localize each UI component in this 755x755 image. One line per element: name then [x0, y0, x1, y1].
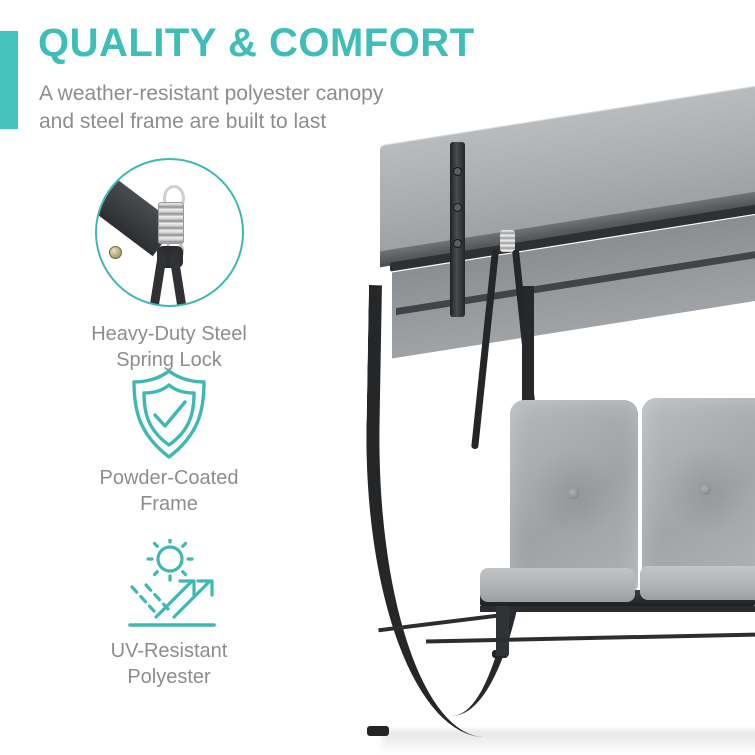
feature-item-powder-coated: Powder-Coated Frame — [24, 363, 314, 538]
back-cushion-left — [510, 400, 638, 590]
feature-label: Powder-Coated Frame — [24, 465, 314, 517]
uv-deflect-icon — [24, 538, 314, 638]
floor-shadow — [382, 730, 755, 754]
shield-check-icon — [24, 363, 314, 465]
feature-label-line-1: UV-Resistant — [24, 638, 314, 664]
frame-foot-left — [367, 726, 389, 736]
feature-item-spring-lock: Heavy-Duty Steel Spring Lock — [24, 158, 314, 363]
feature-label-line-1: Powder-Coated — [24, 465, 314, 491]
marketing-image: QUALITY & COMFORT A weather-resistant po… — [0, 0, 755, 755]
feature-label-line-2: Polyester — [24, 664, 314, 690]
feature-item-uv-resistant: UV-Resistant Polyester — [24, 538, 314, 713]
back-cushion-right — [642, 398, 755, 590]
feature-label: UV-Resistant Polyester — [24, 638, 314, 690]
feature-label-line-2: Frame — [24, 491, 314, 517]
hanger-spring — [500, 230, 515, 252]
feature-label-line-1: Heavy-Duty Steel — [24, 321, 314, 347]
page-title: QUALITY & COMFORT — [38, 22, 475, 65]
seat-rail — [480, 606, 755, 612]
seat-support-stem — [496, 606, 509, 656]
seat-cushion-left — [480, 568, 635, 602]
seat-cushion-right — [640, 566, 755, 600]
patio-swing-photo — [330, 90, 755, 755]
accent-bar — [0, 31, 18, 129]
spring-lock-photo-icon — [24, 158, 314, 321]
feature-list: Heavy-Duty Steel Spring Lock Powder-Coat… — [24, 158, 314, 713]
